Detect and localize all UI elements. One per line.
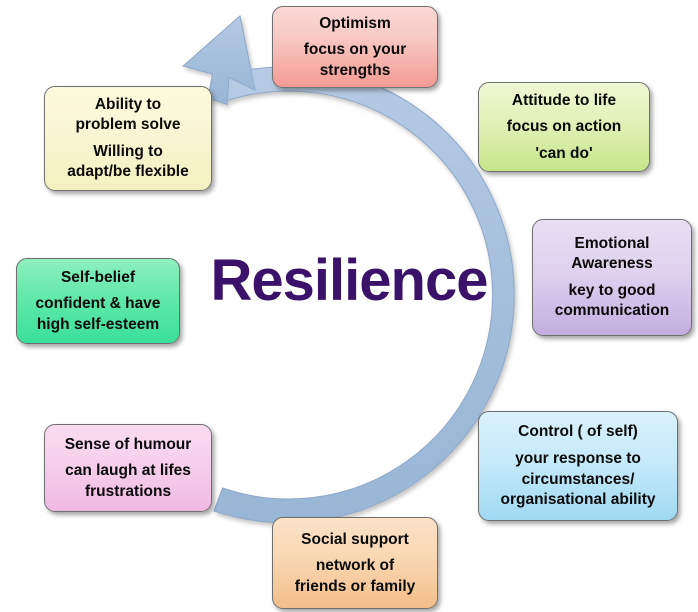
node-ability-title-1: Ability to bbox=[95, 95, 161, 115]
node-self-belief-title: Self-belief bbox=[61, 268, 135, 288]
node-emotional-line-1: key to good bbox=[569, 281, 656, 301]
node-humour-title: Sense of humour bbox=[65, 435, 192, 455]
node-control-line-2: circumstances/ bbox=[522, 470, 635, 490]
node-emotional-awareness[interactable]: Emotional Awareness key to good communic… bbox=[532, 219, 692, 336]
node-sense-of-humour[interactable]: Sense of humour can laugh at lifes frust… bbox=[44, 424, 212, 512]
node-ability-line-1: Willing to bbox=[93, 142, 163, 162]
node-control-title: Control ( of self) bbox=[518, 422, 638, 442]
node-ability-line-2: adapt/be flexible bbox=[67, 162, 188, 182]
node-emotional-line-2: communication bbox=[555, 301, 670, 321]
node-self-belief-line-1: confident & have bbox=[36, 294, 161, 314]
node-attitude-line-1: focus on action bbox=[507, 117, 622, 137]
node-self-belief-line-2: high self-esteem bbox=[37, 315, 159, 335]
node-attitude-line-2: 'can do' bbox=[535, 144, 592, 164]
node-control-line-3: organisational ability bbox=[500, 490, 655, 510]
resilience-cycle-diagram: Resilience Optimism focus on your streng… bbox=[0, 0, 698, 612]
node-ability-title-2: problem solve bbox=[75, 115, 180, 135]
node-optimism-title: Optimism bbox=[319, 14, 390, 34]
node-control-line-1: your response to bbox=[515, 449, 641, 469]
node-attitude-to-life[interactable]: Attitude to life focus on action 'can do… bbox=[478, 82, 650, 172]
node-control[interactable]: Control ( of self) your response to circ… bbox=[478, 411, 678, 521]
node-social-support[interactable]: Social support network of friends or fam… bbox=[272, 517, 438, 609]
node-optimism-line-1: focus on your bbox=[304, 40, 406, 60]
node-optimism-line-2: strengths bbox=[320, 61, 391, 81]
node-emotional-title-1: Emotional bbox=[575, 234, 650, 254]
node-ability-to-problem-solve[interactable]: Ability to problem solve Willing to adap… bbox=[44, 86, 212, 191]
node-humour-line-1: can laugh at lifes bbox=[65, 461, 191, 481]
node-attitude-title: Attitude to life bbox=[512, 91, 616, 111]
node-humour-line-2: frustrations bbox=[85, 482, 171, 502]
node-social-title: Social support bbox=[301, 530, 409, 550]
node-social-line-2: friends or family bbox=[295, 577, 416, 597]
node-optimism[interactable]: Optimism focus on your strengths bbox=[272, 6, 438, 88]
node-emotional-title-2: Awareness bbox=[571, 254, 653, 274]
node-self-belief[interactable]: Self-belief confident & have high self-e… bbox=[16, 258, 180, 344]
node-social-line-1: network of bbox=[316, 556, 394, 576]
